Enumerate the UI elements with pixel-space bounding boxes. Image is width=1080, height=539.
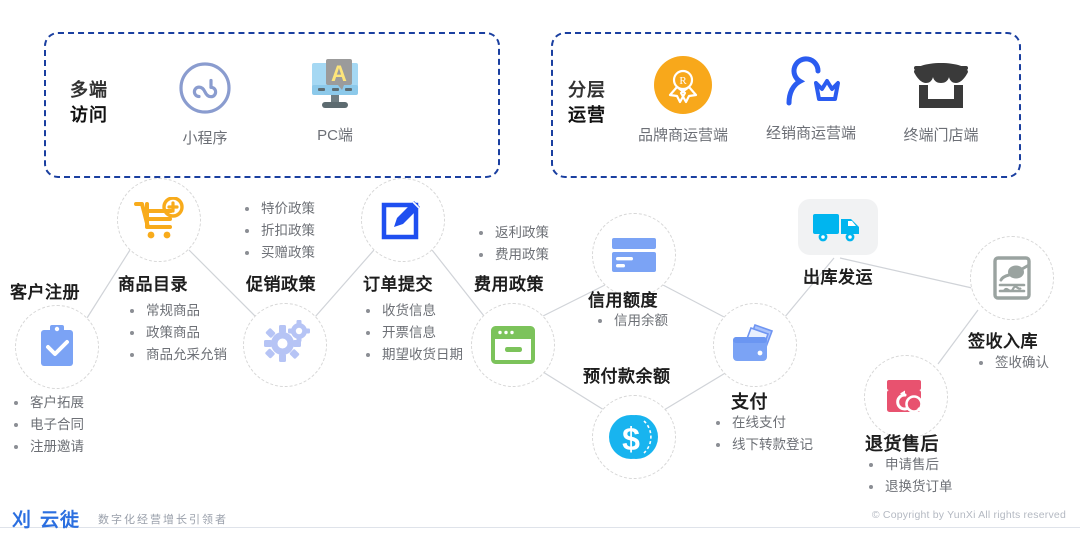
node-title-credit-limit: 信用额度 <box>588 286 658 311</box>
svg-text:$: $ <box>622 421 640 457</box>
browser-window-icon <box>490 324 536 366</box>
node-bullets-credit-limit: 信用余额 <box>596 310 668 332</box>
bullet-item: 商品允采允销 <box>128 344 227 366</box>
bullet-item: 签收确认 <box>977 352 1049 374</box>
node-title-expense-policy: 费用政策 <box>474 270 544 295</box>
bullet-item: 申请售后 <box>867 454 953 476</box>
bullet-item: 信用余额 <box>596 310 668 332</box>
bullet-item: 买赠政策 <box>243 242 315 264</box>
wallet-cash-icon <box>729 322 781 368</box>
node-payment[interactable] <box>713 303 797 387</box>
logo-name: 云徙 <box>40 505 80 532</box>
node-order-submit[interactable] <box>361 178 445 262</box>
delivery-truck-icon <box>812 210 864 244</box>
bullet-item: 线下转款登记 <box>714 434 813 456</box>
bullet-item: 特价政策 <box>243 198 315 220</box>
bullet-item: 客户拓展 <box>12 392 84 414</box>
logo-mark-icon: 刈 <box>12 505 30 532</box>
bullet-item: 开票信息 <box>364 322 463 344</box>
shopping-cart-plus-icon <box>133 197 185 243</box>
node-title-product-catalog: 商品目录 <box>118 270 188 295</box>
bullet-item: 返利政策 <box>477 222 549 244</box>
node-product-catalog[interactable] <box>117 178 201 262</box>
node-promotion-policy[interactable] <box>243 303 327 387</box>
clipboard-check-icon <box>36 324 78 370</box>
node-title-payment: 支付 <box>731 388 768 414</box>
node-title-prepaid-balance: 预付款余额 <box>583 362 671 387</box>
copyright-text: © Copyright by YunXi All rights reserved <box>872 509 1066 521</box>
node-expense-policy[interactable] <box>471 303 555 387</box>
signed-document-icon <box>989 255 1035 301</box>
node-bullets-payment: 在线支付 线下转款登记 <box>714 412 813 456</box>
node-return-after-sales[interactable] <box>864 355 948 439</box>
node-outbound-shipping[interactable] <box>798 199 878 255</box>
node-title-return-after-sales: 退货售后 <box>865 430 939 456</box>
node-bullets-receipt-warehousing: 签收确认 <box>977 352 1049 374</box>
edit-pencil-square-icon <box>380 197 426 243</box>
bullet-item: 电子合同 <box>12 414 84 436</box>
bullet-item: 折扣政策 <box>243 220 315 242</box>
node-bullets-customer-registration: 客户拓展 电子合同 注册邀请 <box>12 392 84 458</box>
gears-icon <box>257 319 313 371</box>
bullet-item: 费用政策 <box>477 244 549 266</box>
return-box-search-icon <box>883 375 929 419</box>
bullet-item: 政策商品 <box>128 322 227 344</box>
logo-slogan: 数字化经营增长引领者 <box>98 511 228 527</box>
node-title-outbound-shipping: 出库发运 <box>803 263 873 288</box>
node-bullets-order-submit: 收货信息 开票信息 期望收货日期 <box>364 300 463 366</box>
bullet-item: 常规商品 <box>128 300 227 322</box>
node-bullets-return-after-sales: 申请售后 退换货订单 <box>867 454 953 498</box>
node-bullets-promotion-policy: 特价政策 折扣政策 买赠政策 <box>243 198 315 264</box>
dollar-coin-icon: $ <box>608 411 660 463</box>
node-credit-limit[interactable] <box>592 213 676 297</box>
bullet-item: 在线支付 <box>714 412 813 434</box>
infographic-page: 多端 访问 小程序 A <box>0 0 1080 539</box>
node-title-order-submit: 订单提交 <box>363 270 433 295</box>
node-title-promotion-policy: 促销政策 <box>246 270 316 295</box>
node-bullets-product-catalog: 常规商品 政策商品 商品允采允销 <box>128 300 227 366</box>
node-title-customer-registration: 客户注册 <box>10 278 80 303</box>
bullet-item: 退换货订单 <box>867 476 953 498</box>
bullet-item: 期望收货日期 <box>364 344 463 366</box>
bullet-item: 注册邀请 <box>12 436 84 458</box>
node-prepaid-balance[interactable]: $ <box>592 395 676 479</box>
brand-logo: 刈 云徙 数字化经营增长引领者 <box>12 505 228 532</box>
node-receipt-warehousing[interactable] <box>970 236 1054 320</box>
node-title-receipt-warehousing: 签收入库 <box>968 327 1038 352</box>
credit-card-icon <box>610 237 658 273</box>
node-customer-registration[interactable] <box>15 305 99 389</box>
bullet-item: 收货信息 <box>364 300 463 322</box>
node-bullets-expense-policy: 返利政策 费用政策 <box>477 222 549 266</box>
